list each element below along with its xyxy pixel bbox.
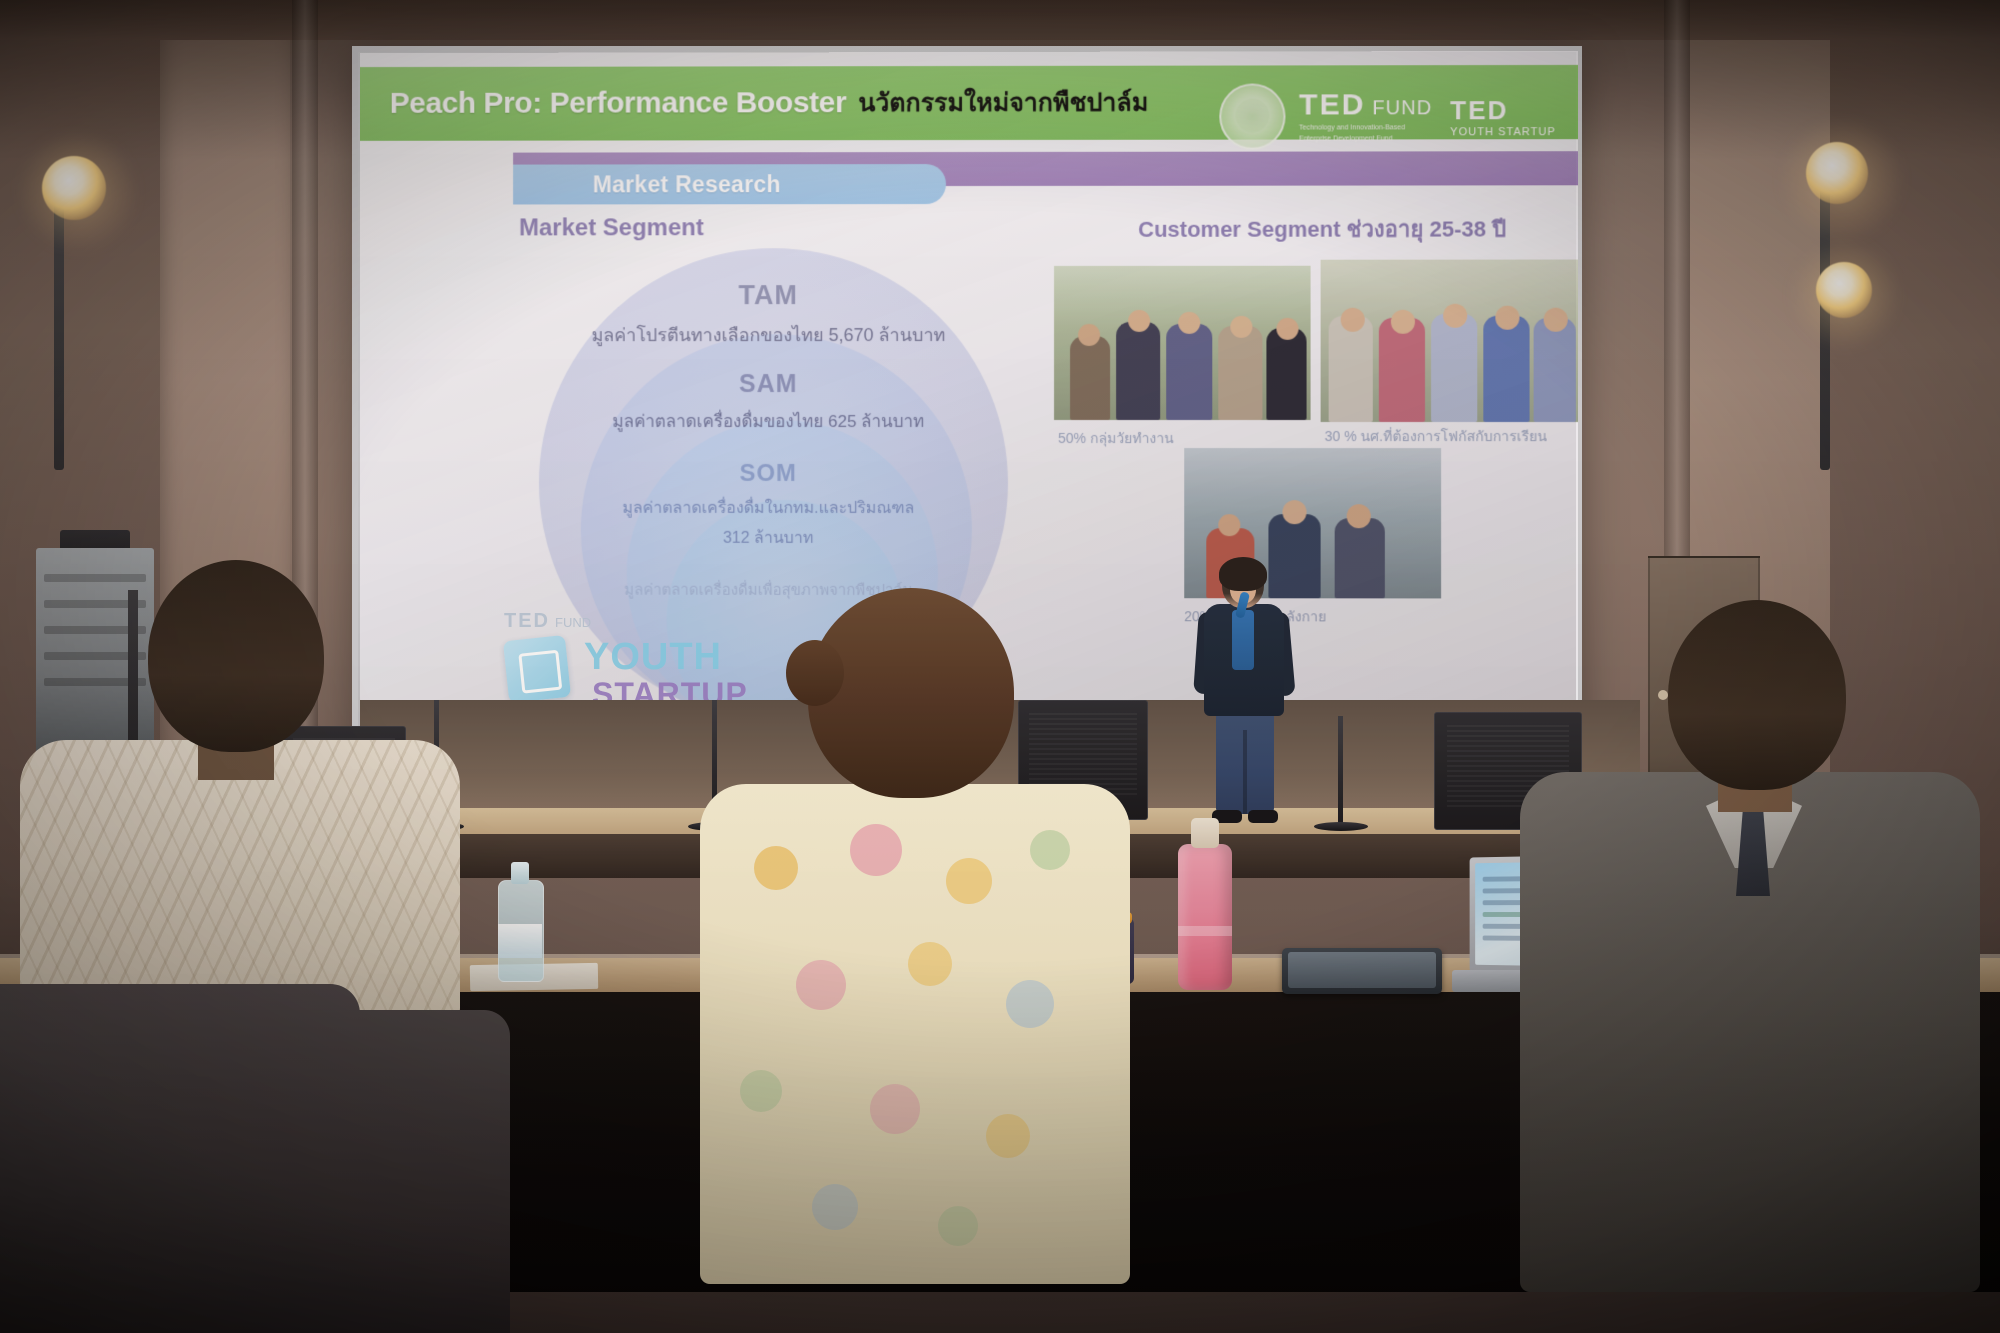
ysc-ted-text: TED bbox=[504, 610, 550, 633]
customer-segment-heading: Customer Segment ช่วงอายุ 25-38 ปี bbox=[1138, 211, 1506, 246]
slide-logo-group: TED FUND Technology and Innovation-Based… bbox=[1219, 83, 1556, 150]
desc-sam: มูลค่าตลาดเครื่องดื่มของไทย 625 ล้านบาท bbox=[509, 408, 1028, 435]
band-notch bbox=[465, 153, 513, 187]
judge-left-head bbox=[148, 560, 324, 752]
photo-caption-students: 30 % นศ.ที่ต้องการโฟกัสกับการเรียน bbox=[1325, 426, 1547, 448]
pink-insulated-bottle bbox=[1178, 818, 1232, 990]
section-pill-label: Market Research bbox=[593, 171, 781, 198]
slide-title-bar: Peach Pro: Performance Booster นวัตกรรมใ… bbox=[360, 65, 1578, 141]
presenter-leg-split bbox=[1243, 730, 1247, 814]
government-seal-icon bbox=[1219, 83, 1285, 149]
wall-lamp-right-1 bbox=[1806, 142, 1868, 204]
market-segment-heading: Market Segment bbox=[519, 214, 704, 242]
ted-fund-fund-text: FUND bbox=[1372, 97, 1432, 120]
screenshot-root: Peach Pro: Performance Booster นวัตกรรมใ… bbox=[0, 0, 2000, 1333]
desc-som-line2: 312 ล้านบาท bbox=[509, 526, 1028, 551]
label-som: SOM bbox=[509, 460, 1028, 488]
photo-caption-working-group: 50% กลุ่มวัยทำงาน bbox=[1058, 428, 1174, 450]
presenter-shoe-right bbox=[1248, 810, 1278, 823]
judge-center bbox=[690, 588, 1160, 1268]
ysc-fund-text: FUND bbox=[555, 615, 591, 630]
presenter-on-stage bbox=[1186, 560, 1306, 830]
label-sam: SAM bbox=[509, 370, 1028, 399]
judge-center-head bbox=[808, 588, 1014, 798]
ted-fund-subtitle-1: Technology and Innovation-Based bbox=[1299, 125, 1432, 134]
ysc-cube-icon bbox=[503, 635, 571, 703]
presenter-shirt bbox=[1232, 610, 1254, 670]
water-bottle bbox=[498, 862, 542, 980]
ted-fund-logo: TED FUND Technology and Innovation-Based… bbox=[1299, 88, 1432, 144]
ted-youth-sub-text: YOUTH STARTUP bbox=[1450, 126, 1555, 138]
ted-fund-subtitle-2: Enterprise Development Fund bbox=[1299, 135, 1432, 144]
label-tam: TAM bbox=[509, 280, 1028, 311]
ted-youth-startup-logo: TED YOUTH STARTUP bbox=[1450, 95, 1555, 138]
desc-tam: มูลค่าโปรตีนทางเลือกของไทย 5,670 ล้านบาท bbox=[509, 320, 1028, 349]
section-pill-market-research: Market Research bbox=[513, 164, 946, 204]
ted-youth-ted-text: TED bbox=[1450, 95, 1555, 126]
desc-som-line1: มูลค่าตลาดเครื่องดื่มในกทม.และปริมณฑล bbox=[509, 496, 1028, 521]
mic-stand-3 bbox=[1338, 716, 1343, 828]
judge-right-head bbox=[1668, 600, 1846, 790]
presenter-hair bbox=[1219, 557, 1267, 591]
judge-right bbox=[1520, 600, 1990, 1270]
customer-photo-students bbox=[1321, 260, 1578, 423]
slide-title-th: นวัตกรรมใหม่จากพืชปาล์ม bbox=[858, 83, 1148, 123]
ted-fund-ted-text: TED bbox=[1299, 89, 1365, 123]
tablet-screen[interactable] bbox=[1288, 952, 1436, 988]
customer-photo-working-group bbox=[1054, 266, 1311, 420]
wall-lamp-right-2 bbox=[1816, 262, 1872, 318]
mic-base-3 bbox=[1314, 822, 1368, 831]
judge-center-hair-bun bbox=[786, 640, 844, 706]
judge-center-floral-pattern bbox=[700, 784, 1130, 1284]
chair-right bbox=[90, 1010, 510, 1333]
wall-lamp-left bbox=[42, 156, 106, 220]
ysc-ted-fund-mark: TED FUND bbox=[504, 610, 591, 633]
slide-title-en: Peach Pro: Performance Booster bbox=[390, 86, 847, 121]
